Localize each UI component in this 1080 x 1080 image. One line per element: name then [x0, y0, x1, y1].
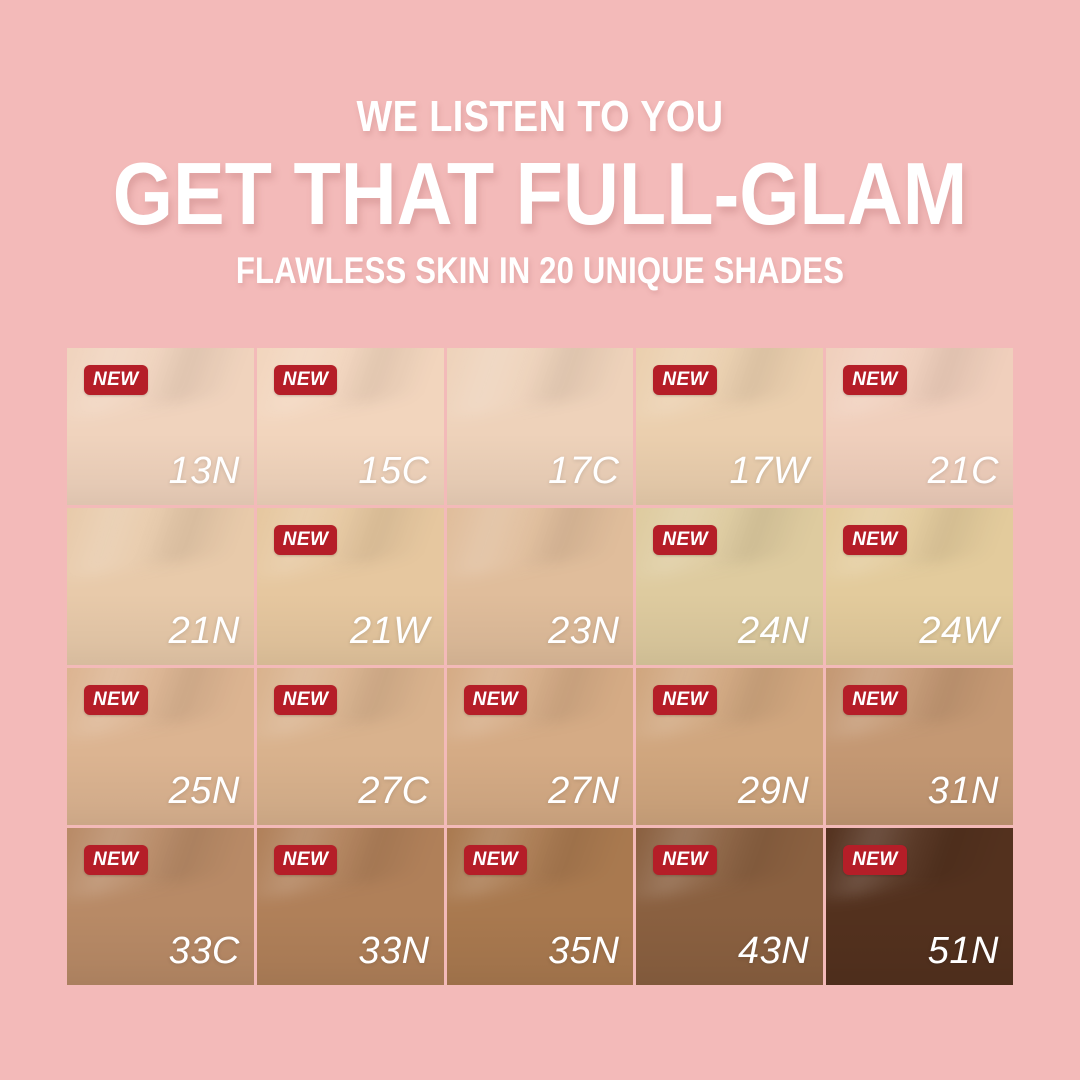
shade-swatch[interactable]: NEW21W [257, 508, 444, 665]
eyebrow-text: WE LISTEN TO YOU [76, 92, 1005, 142]
new-badge: NEW [274, 685, 338, 715]
new-badge: NEW [653, 525, 717, 555]
shade-swatch[interactable]: NEW21C [826, 348, 1013, 505]
shade-swatch[interactable]: NEW24W [826, 508, 1013, 665]
shade-swatch[interactable]: NEW13N [67, 348, 254, 505]
shade-name-label: 17C [548, 451, 619, 491]
shade-swatch[interactable]: NEW27C [257, 668, 444, 825]
shade-name-label: 17W [730, 451, 810, 491]
shade-name-label: 43N [738, 931, 809, 971]
shade-name-label: 24W [919, 611, 999, 651]
new-badge: NEW [843, 685, 907, 715]
new-badge: NEW [274, 525, 338, 555]
new-badge: NEW [274, 365, 338, 395]
shade-name-label: 13N [169, 451, 240, 491]
shade-swatch[interactable]: 21N [67, 508, 254, 665]
shade-name-label: 51N [928, 931, 999, 971]
new-badge: NEW [653, 685, 717, 715]
subheadline-text: FLAWLESS SKIN IN 20 UNIQUE SHADES [86, 250, 993, 292]
shade-name-label: 29N [738, 771, 809, 811]
new-badge: NEW [653, 365, 717, 395]
shade-grid: NEW13NNEW15C17CNEW17WNEW21C21NNEW21W23NN… [67, 348, 1013, 985]
shade-swatch[interactable]: NEW31N [826, 668, 1013, 825]
shade-swatch[interactable]: NEW43N [636, 828, 823, 985]
shade-swatch[interactable]: NEW29N [636, 668, 823, 825]
new-badge: NEW [274, 845, 338, 875]
shade-name-label: 35N [548, 931, 619, 971]
shade-swatch[interactable]: NEW24N [636, 508, 823, 665]
shade-name-label: 21N [169, 611, 240, 651]
shade-swatch[interactable]: 17C [447, 348, 634, 505]
shade-swatch[interactable]: NEW35N [447, 828, 634, 985]
shade-swatch[interactable]: NEW27N [447, 668, 634, 825]
shade-name-label: 24N [738, 611, 809, 651]
shade-name-label: 33C [169, 931, 240, 971]
shade-name-label: 33N [358, 931, 429, 971]
headline-text: GET THAT FULL-GLAM [65, 148, 1015, 240]
shade-swatch[interactable]: NEW33N [257, 828, 444, 985]
shade-swatch[interactable]: NEW17W [636, 348, 823, 505]
shade-name-label: 23N [548, 611, 619, 651]
shade-swatch[interactable]: 23N [447, 508, 634, 665]
shade-swatch[interactable]: NEW33C [67, 828, 254, 985]
shade-name-label: 21W [350, 611, 430, 651]
shade-name-label: 31N [928, 771, 999, 811]
new-badge: NEW [843, 365, 907, 395]
new-badge: NEW [84, 365, 148, 395]
new-badge: NEW [843, 525, 907, 555]
shade-name-label: 27N [548, 771, 619, 811]
shade-name-label: 15C [358, 451, 429, 491]
shade-name-label: 25N [169, 771, 240, 811]
shade-swatch[interactable]: NEW25N [67, 668, 254, 825]
new-badge: NEW [653, 845, 717, 875]
new-badge: NEW [843, 845, 907, 875]
shade-swatch[interactable]: NEW51N [826, 828, 1013, 985]
shade-name-label: 21C [928, 451, 999, 491]
promo-graphic: WE LISTEN TO YOU GET THAT FULL-GLAM FLAW… [0, 0, 1080, 1080]
shade-name-label: 27C [358, 771, 429, 811]
new-badge: NEW [464, 685, 528, 715]
new-badge: NEW [84, 685, 148, 715]
new-badge: NEW [464, 845, 528, 875]
shade-swatch[interactable]: NEW15C [257, 348, 444, 505]
new-badge: NEW [84, 845, 148, 875]
